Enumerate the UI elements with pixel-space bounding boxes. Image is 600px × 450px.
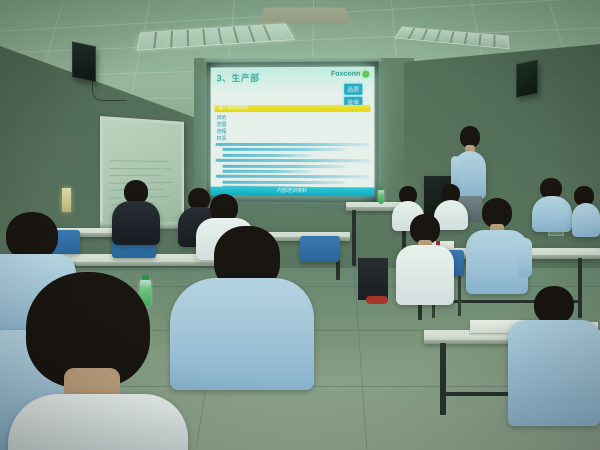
student-torso — [396, 245, 454, 305]
student-arm — [518, 238, 532, 278]
presenter-glasses-icon — [461, 134, 479, 139]
student-right-blue-1 — [532, 178, 572, 230]
student-right-blue-2 — [572, 186, 600, 236]
student-torso — [508, 320, 600, 426]
student-front-white — [8, 272, 188, 450]
student-head — [534, 286, 574, 324]
student-torso — [532, 196, 572, 232]
student-torso — [170, 278, 314, 390]
slide-bullet-3: 流程 — [217, 130, 227, 135]
classroom-photo: 3、生产部 Foxconn 品质 效率 部门职责概述 目的 范围 流程 权责 — [0, 0, 600, 450]
light-switch[interactable] — [62, 188, 71, 212]
slide-logo: Foxconn — [331, 71, 370, 78]
projection-screen: 3、生产部 Foxconn 品质 效率 部门职责概述 目的 范围 流程 权责 — [207, 61, 379, 202]
slide-title: 3、生产部 — [217, 71, 260, 84]
slide-badge-quality: 品质 — [344, 84, 362, 95]
student-head — [6, 212, 58, 260]
student-legs-dark — [358, 258, 388, 300]
student-torso — [572, 203, 600, 237]
student-dark-shirt — [112, 180, 160, 244]
slide-body-text — [216, 143, 370, 192]
wall-speaker-right — [516, 60, 538, 98]
ceiling-vent-center-icon — [259, 7, 350, 23]
slide-logo-text: Foxconn — [331, 71, 360, 78]
slide-bullet-2: 范围 — [217, 123, 227, 128]
student-torso — [112, 201, 160, 245]
chair-leg — [458, 276, 461, 316]
student-woman-blue — [170, 226, 314, 386]
leaf-mark-icon — [362, 71, 369, 78]
slide-bullet-4: 权责 — [217, 137, 227, 142]
student-right-white — [396, 214, 454, 304]
slide-bullet-1: 目的 — [217, 116, 227, 121]
desk-leg — [440, 343, 446, 415]
water-bottle-mid — [378, 190, 384, 204]
student-torso — [8, 394, 188, 450]
red-shoe — [366, 296, 388, 304]
wall-cable — [92, 76, 127, 101]
student-right-gray — [508, 286, 600, 426]
slide-footer-label: 内部培训资料 — [277, 187, 307, 196]
student-right-blue-3 — [466, 198, 528, 294]
projected-slide: 3、生产部 Foxconn 品质 效率 部门职责概述 目的 范围 流程 权责 — [211, 67, 375, 197]
slide-highlight-bar-label: 部门职责概述 — [219, 105, 249, 112]
desk-leg — [352, 210, 356, 266]
slide-highlight-bar: 部门职责概述 — [215, 105, 371, 112]
